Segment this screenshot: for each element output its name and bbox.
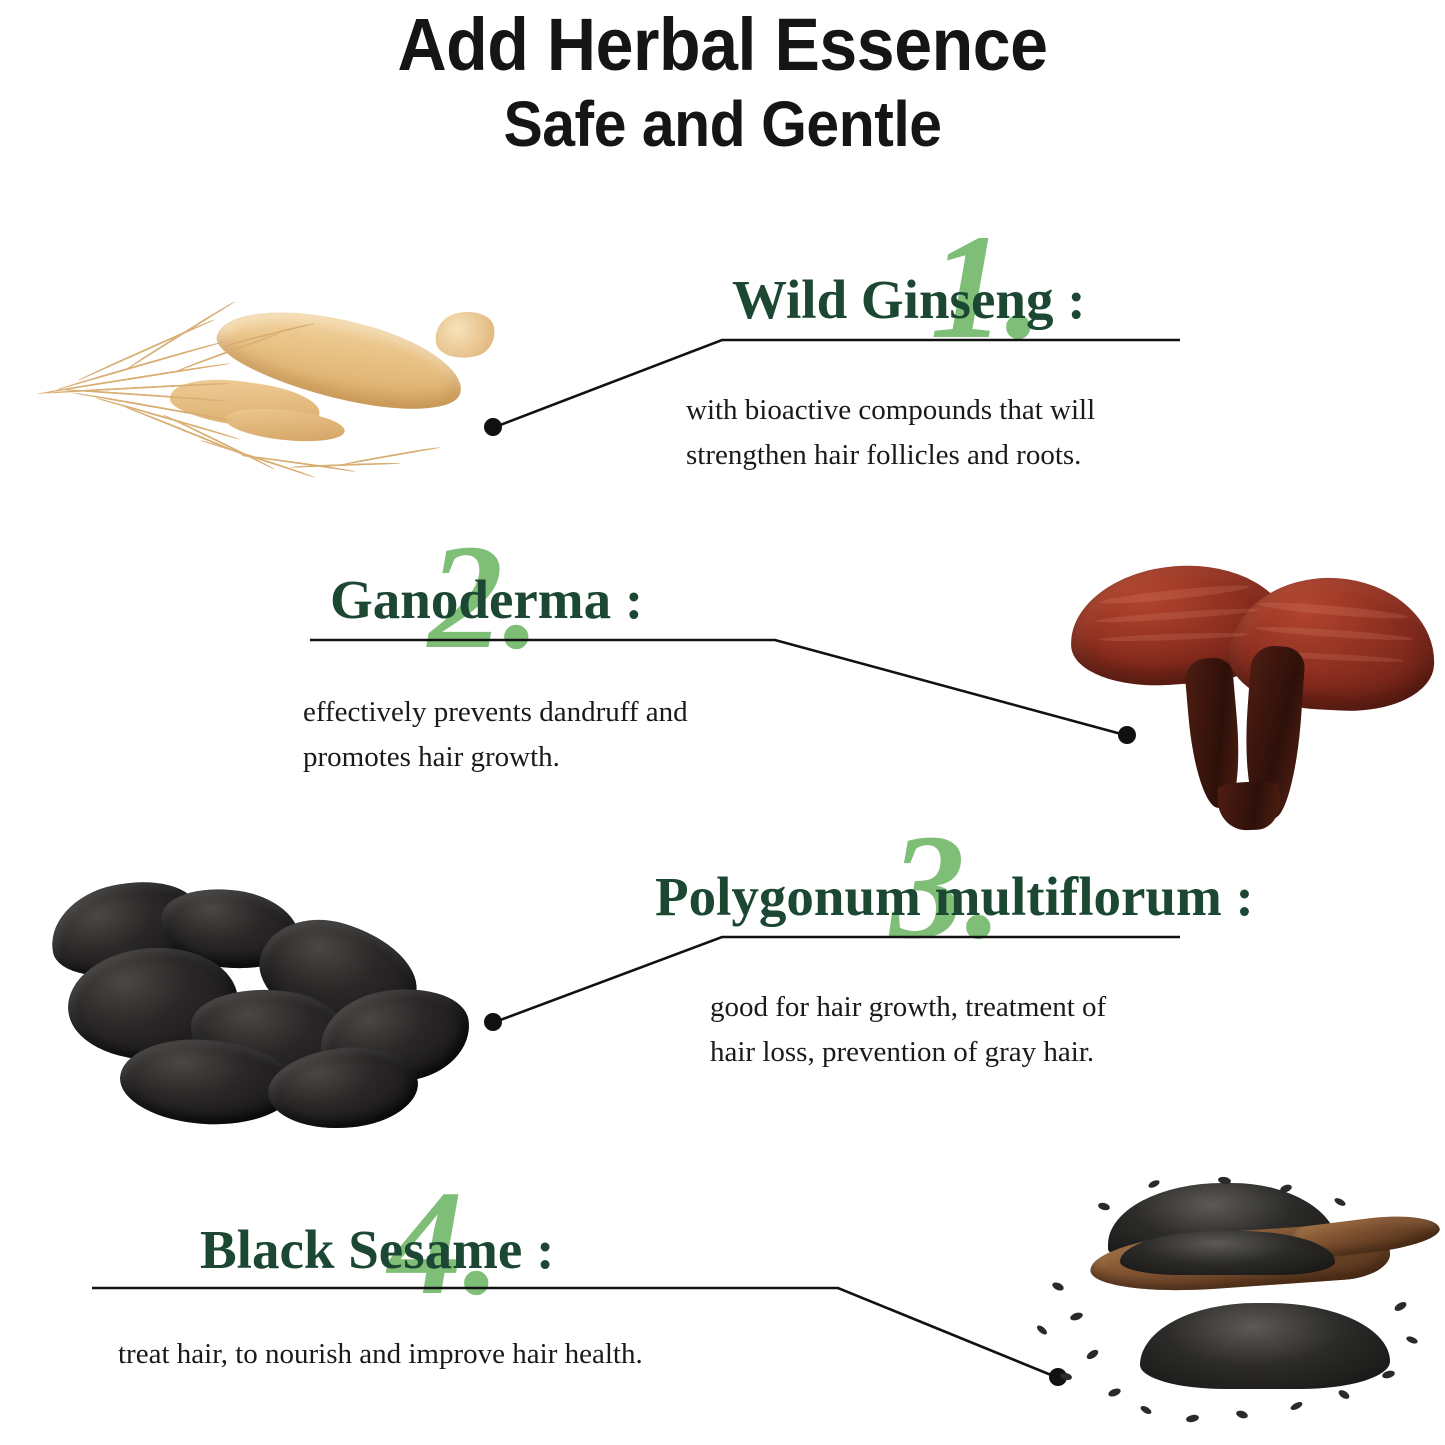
black-sesame-seeds-photo: [990, 1175, 1430, 1440]
section-body-2: effectively prevents dandruff and promot…: [303, 690, 843, 780]
infographic-page: Add Herbal Essence Safe and Gentle: [0, 0, 1445, 1445]
title-line-2: Safe and Gentle: [58, 92, 1387, 156]
polygonum-multiflorum-slices-photo: [20, 862, 490, 1142]
section-body-4: treat hair, to nourish and improve hair …: [118, 1332, 878, 1377]
ganoderma-reishi-mushroom-photo: [1050, 550, 1440, 830]
section-body-3: good for hair growth, treatment of hair …: [710, 985, 1250, 1075]
section-heading-4: Black Sesame :: [200, 1218, 554, 1281]
section-heading-2: Ganoderma :: [330, 568, 643, 631]
title-line-1: Add Herbal Essence: [58, 8, 1387, 82]
section-heading-3: Polygonum multiflorum :: [655, 865, 1254, 928]
page-title: Add Herbal Essence Safe and Gentle: [0, 8, 1445, 156]
section-heading-1: Wild Ginseng :: [732, 268, 1086, 331]
section-body-1: with bioactive compounds that will stren…: [686, 388, 1226, 478]
wild-ginseng-root-photo: [10, 270, 530, 530]
